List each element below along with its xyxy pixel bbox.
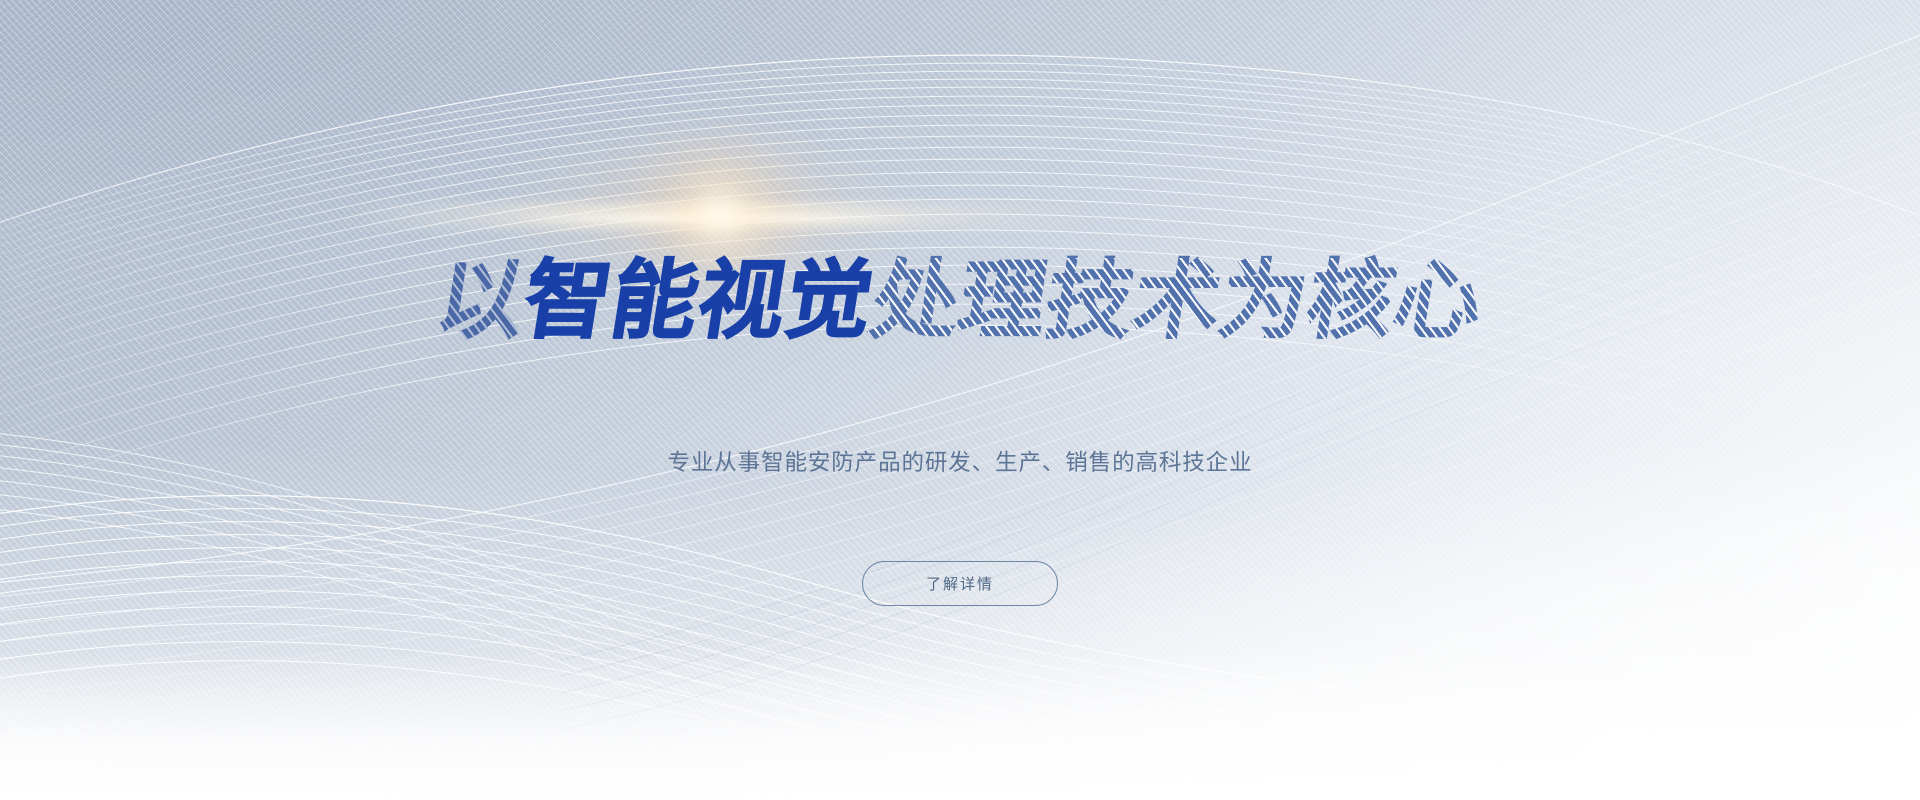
headline-segment-accent: 智能视觉 <box>518 258 880 344</box>
hero-banner: 以智能视觉处理技术为核心 专业从事智能安防产品的研发、生产、销售的高科技企业 了… <box>0 0 1920 800</box>
page-subtitle: 专业从事智能安防产品的研发、生产、销售的高科技企业 <box>667 447 1252 479</box>
learn-more-button[interactable]: 了解详情 <box>862 561 1058 606</box>
diagonal-hatch-texture-secondary <box>0 0 1920 800</box>
page-title: 以智能视觉处理技术为核心 <box>431 258 1489 344</box>
headline-segment-tail: 处理技术为核心 <box>866 258 1489 344</box>
cta-container: 了解详情 <box>862 561 1058 606</box>
headline-segment-lead: 以 <box>431 258 532 344</box>
